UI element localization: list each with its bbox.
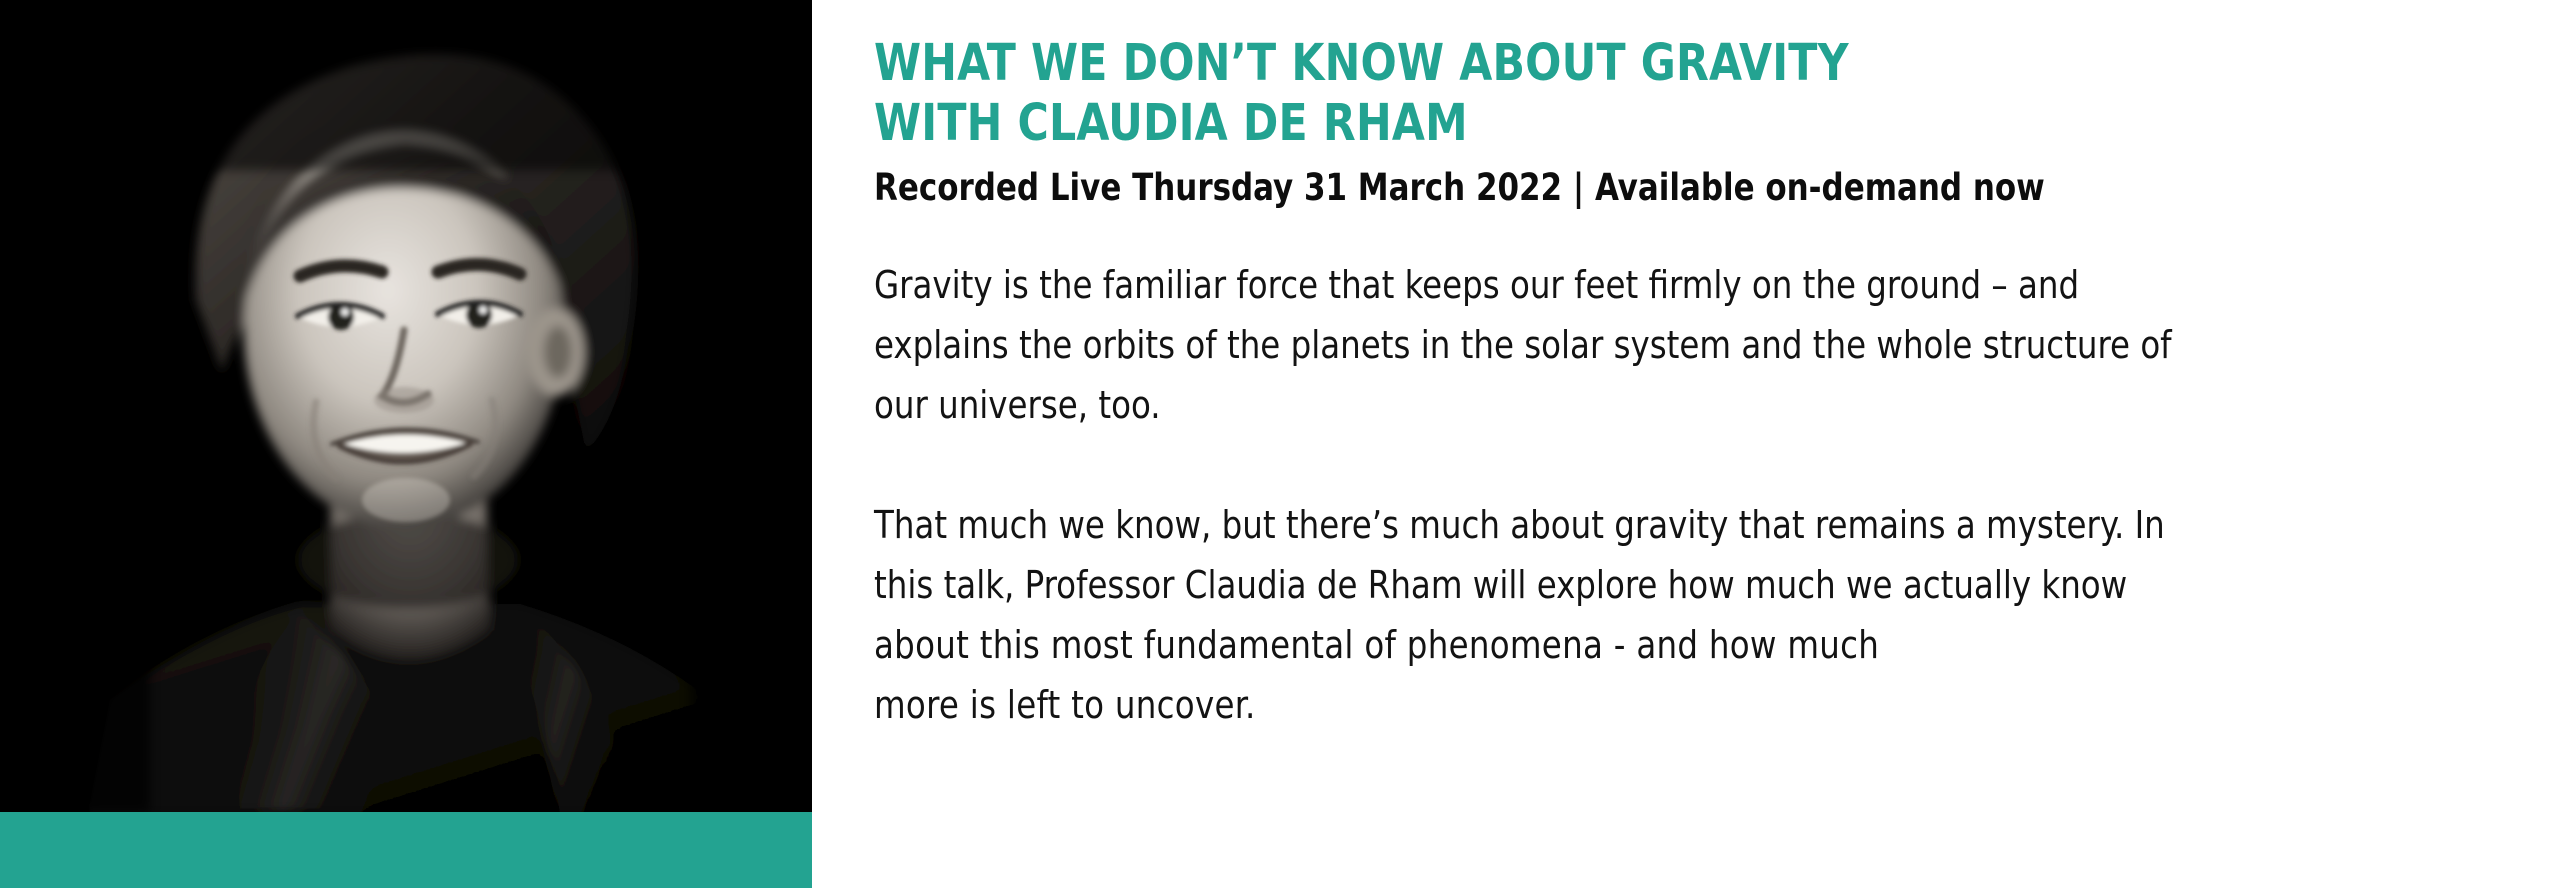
description-paragraph-2: That much we know, but there’s much abou… <box>874 495 2442 735</box>
paragraph-line: That much we know, but there’s much abou… <box>874 495 2442 555</box>
paragraph-line: our universe, too. <box>874 375 2442 435</box>
event-details-panel: WHAT WE DON’T KNOW ABOUT GRAVITY WITH CL… <box>812 0 2560 888</box>
event-description: Gravity is the familiar force that keeps… <box>874 255 2524 735</box>
paragraph-line: this talk, Professor Claudia de Rham wil… <box>874 555 2442 615</box>
headline-line-2: WITH CLAUDIA DE RHAM <box>874 94 2409 154</box>
event-schedule-subtitle: Recorded Live Thursday 31 March 2022 | A… <box>874 166 2409 210</box>
paragraph-line: about this most fundamental of phenomena… <box>874 615 2442 675</box>
event-promo-banner: WHAT WE DON’T KNOW ABOUT GRAVITY WITH CL… <box>0 0 2560 888</box>
description-paragraph-1: Gravity is the familiar force that keeps… <box>874 255 2442 435</box>
event-headline: WHAT WE DON’T KNOW ABOUT GRAVITY WITH CL… <box>874 34 2409 154</box>
speaker-portrait <box>0 0 812 812</box>
speaker-media-panel <box>0 0 812 888</box>
paragraph-line: Gravity is the familiar force that keeps… <box>874 255 2442 315</box>
teal-accent-bar <box>0 812 812 888</box>
headline-line-1: WHAT WE DON’T KNOW ABOUT GRAVITY <box>874 34 2409 94</box>
paragraph-line: more is left to uncover. <box>874 675 2442 735</box>
paragraph-line: explains the orbits of the planets in th… <box>874 315 2442 375</box>
speaker-portrait-image <box>0 0 812 812</box>
